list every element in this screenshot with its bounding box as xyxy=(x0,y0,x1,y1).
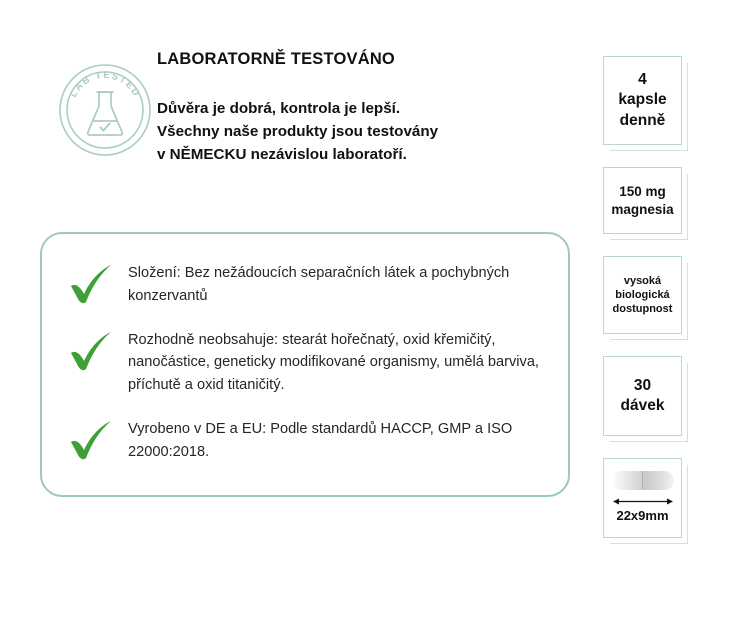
capsule-icon xyxy=(612,471,674,490)
info-box-text: 150 mg magnesia xyxy=(609,179,675,222)
info-box-line: magnesia xyxy=(611,201,673,219)
benefit-text: Vyrobeno v DE a EU: Podle standardů HACC… xyxy=(128,416,548,464)
benefit-text: Složení: Bez nežádoucích separačních lát… xyxy=(128,260,548,308)
info-box-text: 30 dávek xyxy=(619,372,667,420)
info-box-line: 22x9mm xyxy=(616,508,668,525)
info-box-line: 150 mg xyxy=(611,183,673,201)
check-icon xyxy=(68,331,114,373)
info-box-bioavailability: vysoká biologická dostupnost xyxy=(603,256,682,334)
list-item: Složení: Bez nežádoucích separačních lát… xyxy=(68,260,548,308)
info-box-line: 4 xyxy=(618,70,666,90)
hero-section: LAB TESTED LABORATORNĚ TESTOVÁNO Důvěra … xyxy=(0,0,595,215)
info-box-capsules-per-day: 4 kapsle denně xyxy=(603,56,682,145)
dimension-arrow-icon xyxy=(612,496,674,507)
hero-subtitle: Důvěra je dobrá, kontrola je lepší. Všec… xyxy=(157,97,577,166)
info-box-line: dávek xyxy=(621,396,665,416)
check-icon xyxy=(68,420,114,462)
lab-tested-seal-icon: LAB TESTED xyxy=(57,62,153,158)
info-box-text: 4 kapsle denně xyxy=(616,66,668,134)
info-box-magnesium-amount: 150 mg magnesia xyxy=(603,167,682,234)
check-icon xyxy=(68,264,114,306)
hero-text-block: LABORATORNĚ TESTOVÁNO Důvěra je dobrá, k… xyxy=(157,50,577,166)
info-box-line: denně xyxy=(618,111,666,131)
hero-subtitle-line-1: Důvěra je dobrá, kontrola je lepší. xyxy=(157,97,577,120)
list-item: Vyrobeno v DE a EU: Podle standardů HACC… xyxy=(68,416,548,464)
benefits-card: Složení: Bez nežádoucích separačních lát… xyxy=(40,232,570,497)
benefit-text: Rozhodně neobsahuje: stearát hořečnatý, … xyxy=(128,327,548,397)
list-item: Rozhodně neobsahuje: stearát hořečnatý, … xyxy=(68,327,548,397)
info-box-line: 30 xyxy=(621,376,665,396)
info-box-line: dostupnost xyxy=(613,302,673,316)
info-box-text: vysoká biologická dostupnost xyxy=(611,270,675,321)
info-box-line: biologická xyxy=(613,288,673,302)
info-box-capsule-size: 22x9mm xyxy=(603,458,682,538)
info-box-column: 4 kapsle denně 150 mg magnesia vysoká bi… xyxy=(603,56,693,538)
info-box-servings: 30 dávek xyxy=(603,356,682,436)
info-box-line: kapsle xyxy=(618,90,666,110)
hero-subtitle-line-2: Všechny naše produkty jsou testovány xyxy=(157,120,577,143)
hero-subtitle-line-3: v NĚMECKU nezávislou laboratoří. xyxy=(157,143,577,166)
page-title: LABORATORNĚ TESTOVÁNO xyxy=(157,50,577,70)
benefits-list: Složení: Bez nežádoucích separačních lát… xyxy=(68,260,548,463)
svg-text:LAB TESTED: LAB TESTED xyxy=(68,70,142,99)
info-box-line: vysoká xyxy=(613,274,673,288)
info-box-text: 22x9mm xyxy=(612,471,674,525)
